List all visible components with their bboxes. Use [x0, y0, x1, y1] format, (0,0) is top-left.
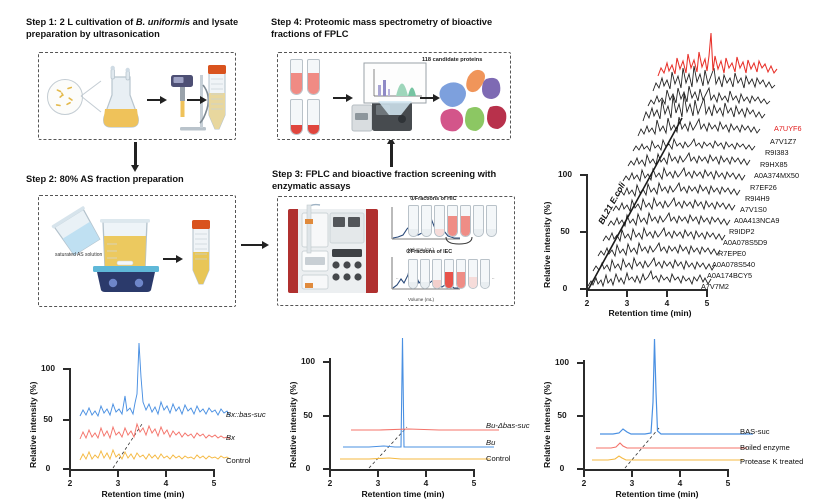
flow-arrow-5	[420, 97, 434, 99]
waterfall-label-7: A7V1S0	[740, 205, 767, 214]
waterfall-xlabel: Retention time (min)	[580, 308, 720, 318]
magnetic-stirrer-icon	[91, 266, 161, 294]
candidate-proteins-label: 118 candidate proteins	[422, 57, 482, 63]
step-4-panel: 118 candidate proteins	[277, 52, 511, 140]
flow-arrow-3	[163, 258, 177, 260]
bassuc-ytick-50: 50	[550, 410, 574, 420]
bassuc-series-label-1: Boiled enzyme	[740, 443, 790, 452]
hic-fraction-rack	[408, 205, 500, 239]
bx-series-label-0: Bx::bas-suc	[226, 410, 266, 419]
step-3-title-part1: Step 3: FPLC and bioactive fraction scre…	[272, 169, 496, 191]
bassuc-series-label-2: Protease K treated	[740, 457, 803, 466]
falcon-tube-as-icon	[189, 218, 213, 290]
chart-bu: 100 50 0 2 3 4 5 Retention time (min) Re…	[280, 330, 565, 502]
bu-ytick-50: 50	[296, 410, 320, 420]
bassuc-series-label-0: BAS-suc	[740, 427, 770, 436]
waterfall-xtick-2: 2	[576, 298, 598, 308]
bassuc-xtick-5: 5	[717, 478, 739, 488]
waterfall-xtick-3: 3	[616, 298, 638, 308]
waterfall-ytick-50: 50	[553, 226, 577, 236]
step-2-title-part1: Step 2: 80% AS fraction preparation	[26, 174, 184, 184]
bx-traces	[69, 332, 269, 472]
waterfall-label-3: R9HX85	[760, 160, 788, 169]
bu-ytick-0: 0	[296, 463, 320, 473]
flow-arrow-4	[333, 97, 347, 99]
waterfall-label-9: R9IDP2	[729, 227, 755, 236]
waterfall-label-5: R7EF26	[750, 183, 777, 192]
waterfall-ylabel: Relative intensity (%)	[542, 202, 552, 288]
chart-bassuc: 100 50 0 2 3 4 5 Retention time (min) Re…	[540, 330, 831, 502]
fplc-machine-icon	[286, 205, 382, 297]
bx-xtick-4: 4	[155, 478, 177, 488]
bx-series-label-1: Bx	[226, 433, 235, 442]
iec-fraction-rack: .. ..	[404, 259, 504, 293]
falcon-tube-icon	[205, 63, 229, 135]
flow-arrow-step1-to-step2	[134, 142, 137, 166]
waterfall-label-4: A0A374MX50	[754, 171, 799, 180]
step-4-title-part1: Step 4: Proteomic mass spectrometry of b…	[271, 17, 492, 39]
bassuc-ytick-0: 0	[550, 463, 574, 473]
waterfall-xtick-5: 5	[696, 298, 718, 308]
bx-ytick-100: 100	[36, 363, 60, 373]
bassuc-xtick-3: 3	[621, 478, 643, 488]
bu-series-label-1: Bu	[486, 438, 495, 447]
iec-ellipsis-left: ..	[396, 275, 399, 280]
waterfall-label-6: R9I4H9	[745, 194, 770, 203]
bassuc-ytick-100: 100	[550, 357, 574, 367]
bu-xtick-3: 3	[367, 478, 389, 488]
waterfall-label-10: A0A078S5D9	[723, 238, 767, 247]
waterfall-label-14: A7V7M2	[701, 282, 729, 291]
flow-arrow-2	[187, 99, 201, 101]
hic-bracket-icon	[444, 237, 476, 247]
bu-xlabel: Retention time (min)	[332, 489, 474, 499]
protein-blobs-icon	[438, 65, 510, 135]
bx-xtick-3: 3	[107, 478, 129, 488]
hic-fractions-label: ①Fractions of HIC	[410, 196, 456, 202]
bx-xlabel: Retention time (min)	[72, 489, 214, 499]
iec-chromatogram-xlabel: Volume (mL)	[408, 297, 434, 302]
bu-ytick-100: 100	[296, 356, 320, 366]
bassuc-xtick-4: 4	[669, 478, 691, 488]
bassuc-xtick-2: 2	[573, 478, 595, 488]
saturated-as-label: saturated AS solution	[55, 252, 102, 258]
iec-ellipsis-right: ..	[492, 275, 495, 280]
bx-ylabel: Relative intensity (%)	[28, 382, 38, 468]
flow-arrow-step2-to-step3	[241, 244, 263, 246]
bu-series-label-0: Bu-Δbas-suc	[486, 421, 530, 430]
waterfall-ytick-0: 0	[553, 283, 577, 293]
waterfall-label-12: A0A078S540	[712, 260, 755, 269]
bassuc-ylabel: Relative intensity (%)	[542, 382, 552, 468]
bu-series-label-2: Control	[486, 454, 510, 463]
waterfall-label-0: A7UYF6	[774, 124, 802, 133]
ms-screen-cone-icon	[378, 101, 412, 117]
bx-ytick-50: 50	[36, 414, 60, 424]
bx-xtick-5: 5	[203, 478, 225, 488]
bu-ylabel: Relative intensity (%)	[288, 382, 298, 468]
bassuc-xlabel: Retention time (min)	[586, 489, 728, 499]
petri-dish-icon	[47, 79, 83, 115]
flow-arrow-1	[147, 99, 161, 101]
bu-traces	[329, 332, 529, 472]
chart-bx: 100 50 0 2 3 4 5 Retention time (min) Re…	[20, 330, 305, 502]
step-3-panel: Volume (mL) Volume (mL) ①Fractions of HI…	[277, 196, 515, 306]
bx-series-label-2: Control	[226, 456, 250, 465]
waterfall-ytick-100: 100	[553, 169, 577, 179]
step-1-title-italic: B. uniformis	[136, 17, 190, 27]
waterfall-traces	[586, 30, 786, 292]
culture-flask-icon	[99, 65, 143, 133]
step-3-title: Step 3: FPLC and bioactive fraction scre…	[272, 168, 512, 193]
step-1-title-part1: Step 1: 2 L cultivation of	[26, 17, 136, 27]
waterfall-xtick-4: 4	[656, 298, 678, 308]
bu-xtick-4: 4	[415, 478, 437, 488]
waterfall-label-8: A0A413NCA9	[734, 216, 779, 225]
step-1-panel	[38, 52, 236, 140]
bu-xtick-5: 5	[463, 478, 485, 488]
step-1-title: Step 1: 2 L cultivation of B. uniformis …	[26, 16, 266, 41]
waterfall-label-1: A7V1Z7	[770, 137, 796, 146]
bx-ytick-0: 0	[36, 463, 60, 473]
waterfall-label-2: R9I383	[765, 148, 789, 157]
step-2-title: Step 2: 80% AS fraction preparation	[26, 173, 272, 185]
ms-sample-tubes	[288, 59, 328, 133]
bu-xtick-2: 2	[319, 478, 341, 488]
step-4-title: Step 4: Proteomic mass spectrometry of b…	[271, 16, 509, 41]
iec-fractions-label: ②Fractions of IEC	[406, 249, 452, 255]
waterfall-label-13: A0A174BCY5	[707, 271, 752, 280]
waterfall-label-11: R7EPE0	[718, 249, 746, 258]
flow-arrow-step3-to-step4	[390, 143, 393, 167]
bx-xtick-2: 2	[59, 478, 81, 488]
waterfall-chart: 100 50 0 2 3 4 5 Retention time (min) Re…	[520, 6, 831, 311]
step-2-panel: saturated AS solution	[38, 195, 236, 307]
